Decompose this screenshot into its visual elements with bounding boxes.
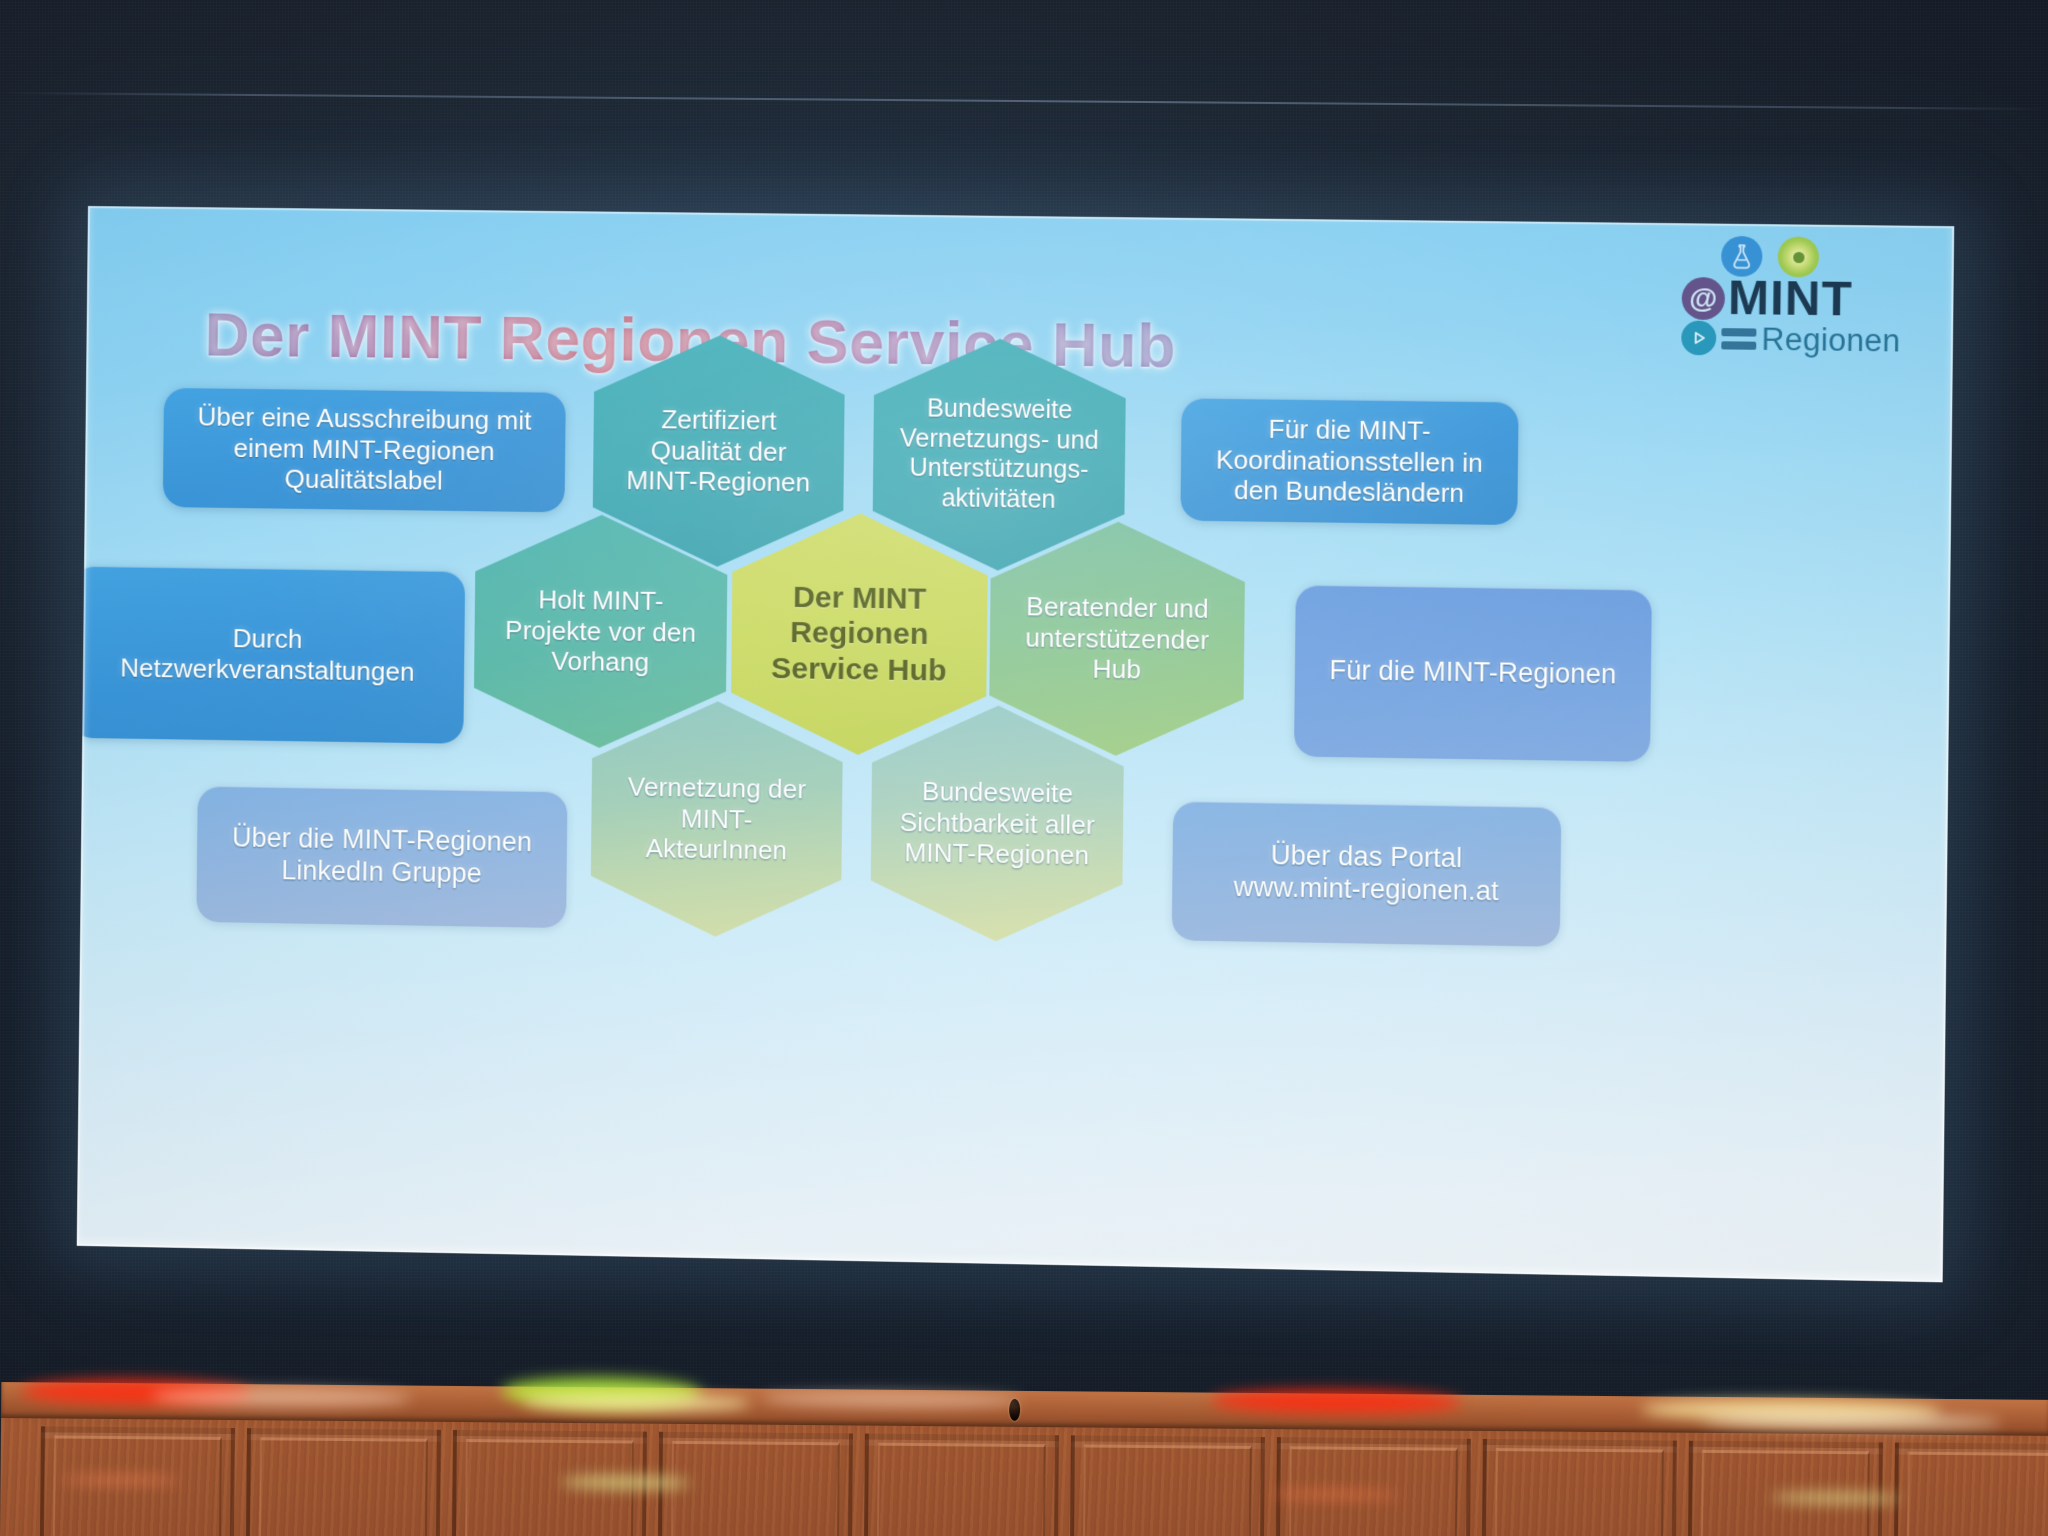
node-label: Für die MINT-Koordinationsstellen inden …: [1205, 413, 1494, 510]
node-label: Der MINTRegionenService Hub: [761, 579, 958, 689]
equals-bars-icon: [1721, 328, 1756, 350]
at-symbol-icon: @: [1682, 277, 1726, 320]
node-label: DurchNetzwerkveranstaltungen: [110, 622, 425, 688]
node-label: Über die MINT-RegionenLinkedIn Gruppe: [221, 822, 542, 891]
node-label: Über das Portalwww.mint-regionen.at: [1223, 839, 1509, 908]
node-linkedin-gruppe[interactable]: Über die MINT-RegionenLinkedIn Gruppe: [196, 786, 567, 928]
node-label: BundesweiteVernetzungs- undUnterstützung…: [889, 394, 1110, 516]
node-label: Holt MINT-Projekte vor denVorhang: [495, 584, 707, 679]
node-label: BundesweiteSichtbarkeit allerMINT-Region…: [889, 775, 1105, 871]
logo-wordmark: MINT: [1728, 274, 1853, 324]
logo-sub-row: Regionen: [1681, 321, 1901, 358]
wall-seam-line: [0, 92, 2048, 110]
node-service-hub-center[interactable]: Der MINTRegionenService Hub: [730, 512, 988, 757]
node-label: Für die MINT-Regionen: [1319, 655, 1627, 692]
node-vernetzung-akteurinnen[interactable]: Vernetzung derMINT-AkteurInnen: [590, 700, 843, 939]
node-label: Beratender undunterstützenderHub: [1015, 591, 1220, 687]
node-koordinationsstellen[interactable]: Für die MINT-Koordinationsstellen inden …: [1180, 397, 1518, 525]
node-fuer-mint-regionen[interactable]: Für die MINT-Regionen: [1294, 585, 1652, 762]
wood-paneling: [0, 1382, 2048, 1536]
projection-screen: Der MINT Regionen Service Hub @: [77, 206, 1954, 1282]
logo-sub-wordmark: Regionen: [1761, 323, 1900, 356]
node-label: Vernetzung derMINT-AkteurInnen: [617, 771, 816, 867]
node-label: Über eine Ausschreibung miteinem MINT-Re…: [187, 401, 542, 498]
presentation-slide: Der MINT Regionen Service Hub @: [77, 206, 1954, 1282]
logo-wordmark-row: @ MINT: [1682, 274, 1854, 325]
play-triangle-icon: [1681, 321, 1716, 356]
lecture-room-photo: Der MINT Regionen Service Hub @: [0, 0, 2048, 1536]
mint-regionen-logo: @ MINT Regionen: [1681, 235, 1906, 351]
node-portal[interactable]: Über das Portalwww.mint-regionen.at: [1172, 801, 1562, 947]
node-netzwerkveranstaltungen[interactable]: DurchNetzwerkveranstaltungen: [77, 566, 465, 744]
node-label: ZertifiziertQualität derMINT-Regionen: [616, 404, 821, 499]
node-ausschreibung[interactable]: Über eine Ausschreibung miteinem MINT-Re…: [163, 387, 566, 512]
